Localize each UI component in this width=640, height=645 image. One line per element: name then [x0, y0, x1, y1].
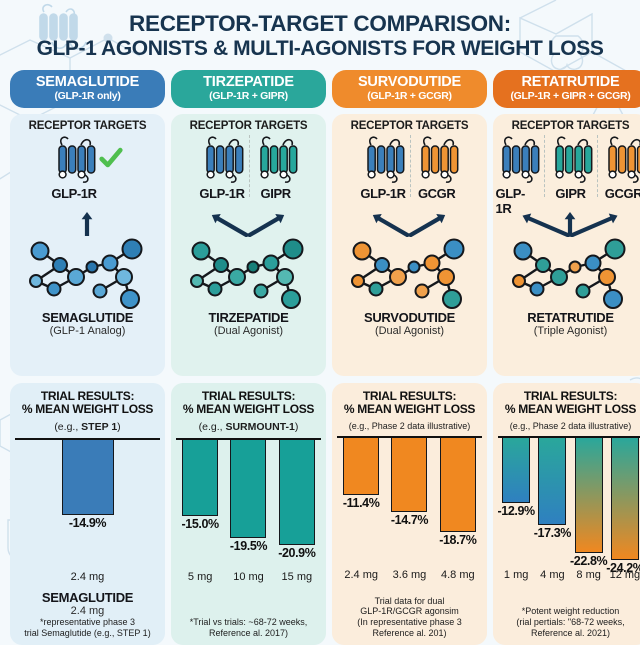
drug-pill-targets: (GLP-1R + GIPR)	[173, 91, 324, 102]
receptor-label: GIPR	[555, 186, 585, 201]
drug-column-semaglutide: SEMAGLUTIDE (GLP-1R only) RECEPTOR TARGE…	[10, 70, 165, 645]
bar-cell: -17.3%	[534, 438, 570, 540]
receptor-label: GCGR	[605, 186, 640, 201]
weight-loss-bar[interactable]	[279, 440, 315, 545]
footnote-line: *Trial vs trials: ~68-72 weeks,	[190, 617, 307, 628]
footnote-line: (In representative phase 3	[357, 617, 462, 628]
footnote-line: trial Semaglutide (e.g., STEP 1)	[24, 628, 150, 639]
receptor-helix-icon	[361, 135, 405, 185]
weight-loss-bar[interactable]	[391, 438, 427, 512]
receptor-helix-icon	[602, 135, 640, 185]
bar-value-label: -17.3%	[534, 526, 571, 540]
bar-cell: -12.9%	[498, 438, 534, 518]
bar-cell: -20.9%	[273, 440, 321, 560]
dose-label: 2.4 mg	[337, 569, 385, 581]
receptor-label: GLP-1R	[496, 186, 540, 216]
receptor-helix-icon	[200, 135, 244, 185]
receptor-label: GLP-1R	[51, 186, 96, 201]
receptor-row: GLP-1R GIPR GCGR	[497, 135, 640, 207]
chart-bars: -11.4% -14.7% -18.7%	[337, 438, 482, 568]
footnote-line: Reference al. 2017)	[190, 628, 307, 639]
check-icon	[98, 145, 124, 171]
molecule-icon	[175, 237, 321, 309]
weight-loss-bar-chart: -15.0% -19.5% -20.9%	[176, 438, 321, 570]
weight-loss-bar-chart: -11.4% -14.7% -18.7%	[337, 436, 482, 568]
trial-reference-note: (e.g., STEP 1)	[54, 421, 120, 433]
receptor-card: RECEPTOR TARGETS GLP-1R GIPR GC	[493, 114, 640, 376]
receptor-card: RECEPTOR TARGETS GLP-1R SEMAGLUTIDE (GLP…	[10, 114, 165, 376]
dose-row: 2.4 mg3.6 mg4.8 mg	[337, 569, 482, 581]
drug-pill-targets: (GLP-1R + GIPR + GCGR)	[495, 91, 640, 102]
dose-label: 1 mg	[498, 569, 534, 581]
drug-column-tirzepatide: TIRZEPATIDE (GLP-1R + GIPR) RECEPTOR TAR…	[171, 70, 326, 645]
receptor-targets-label: RECEPTOR TARGETS	[29, 120, 147, 132]
agonism-arrows	[175, 207, 322, 237]
drug-pill-name: RETATRUTIDE	[495, 75, 640, 90]
molecule-graphic	[175, 237, 322, 309]
receptor-unit-gipr[interactable]: GIPR	[254, 135, 298, 201]
bar-value-label: -22.8%	[570, 554, 607, 568]
drug-pill-header[interactable]: SEMAGLUTIDE (GLP-1R only)	[10, 70, 165, 108]
bar-value-label: -24.2%	[606, 561, 640, 575]
footnote-line: GLP-1R/GCGR agonsim	[357, 606, 462, 617]
weight-loss-bar[interactable]	[575, 438, 603, 553]
bar-value-label: -11.4%	[343, 496, 380, 510]
dose-label: 8 mg	[571, 569, 607, 581]
bar-cell: -14.9%	[15, 440, 160, 530]
chart-bars: -12.9% -17.3% -22.8% -24.2%	[498, 438, 640, 568]
dose-row: 5 mg10 mg15 mg	[176, 571, 321, 583]
dose-label: 10 mg	[224, 571, 272, 583]
dose-label: 5 mg	[176, 571, 224, 583]
arrow-group-icon	[14, 207, 160, 237]
drug-type: (Dual Agonist)	[375, 325, 444, 337]
molecule-icon	[14, 237, 160, 309]
drug-pill-targets: (GLP-1R + GCGR)	[334, 91, 485, 102]
receptor-divider	[544, 135, 545, 197]
trial-reference-note: (e.g., Phase 2 data illustrative)	[510, 421, 632, 431]
trial-results-card: TRIAL RESULTS: % MEAN WEIGHT LOSS (e.g.,…	[10, 383, 165, 645]
dose-row: 2.4 mg	[15, 571, 160, 583]
receptor-unit-gcgr[interactable]: GCGR	[415, 135, 459, 201]
trial-results-title-line1: TRIAL RESULTS:	[22, 390, 153, 404]
receptor-helix-icon	[496, 135, 540, 185]
bar-cell: -14.7%	[385, 438, 433, 527]
receptor-unit-glp-1r[interactable]: GLP-1R	[199, 135, 244, 201]
infographic-root: RECEPTOR-TARGET COMPARISON: GLP-1 AGONIS…	[0, 0, 640, 640]
drug-type: (GLP-1 Analog)	[50, 325, 126, 337]
title-line-2: GLP-1 AGONISTS & MULTI-AGONISTS FOR WEIG…	[6, 37, 634, 61]
weight-loss-bar[interactable]	[611, 438, 639, 560]
chart-bars: -15.0% -19.5% -20.9%	[176, 440, 321, 570]
chart-footnote: *Trial vs trials: ~68-72 weeks,Reference…	[190, 617, 307, 641]
dose-label: 3.6 mg	[385, 569, 433, 581]
receptor-helix-icon	[52, 135, 96, 185]
bar-cell: -22.8%	[571, 438, 607, 568]
receptor-row: GLP-1R	[14, 135, 161, 207]
receptor-label: GIPR	[261, 186, 291, 201]
receptor-divider	[597, 135, 598, 197]
trial-results-card: TRIAL RESULTS: % MEAN WEIGHT LOSS (e.g.,…	[171, 383, 326, 645]
drug-name: SEMAGLUTIDE	[42, 310, 133, 325]
chart-footnote: *representative phase 3trial Semaglutide…	[24, 617, 150, 641]
footnote-line: *representative phase 3	[24, 617, 150, 628]
drug-pill-header[interactable]: SURVODUTIDE (GLP-1R + GCGR)	[332, 70, 487, 108]
check-mark-icon	[98, 145, 124, 171]
trial-results-title-line1: TRIAL RESULTS:	[344, 390, 475, 404]
drug-pill-header[interactable]: RETATRUTIDE (GLP-1R + GIPR + GCGR)	[493, 70, 640, 108]
bar-value-label: -19.5%	[230, 539, 267, 553]
trial-reference-note: (e.g., Phase 2 data illustrative)	[349, 421, 471, 431]
bar-value-label: -20.9%	[278, 546, 315, 560]
trial-results-title: TRIAL RESULTS: % MEAN WEIGHT LOSS	[183, 390, 314, 417]
footnote-line: *Potent weight reduction	[516, 606, 624, 617]
arrow-group-icon	[175, 207, 321, 237]
bar-cell: -11.4%	[337, 438, 385, 510]
trial-results-title-line1: TRIAL RESULTS:	[505, 390, 636, 404]
weight-loss-bar[interactable]	[343, 438, 379, 495]
chart-bars: -14.9%	[15, 440, 160, 570]
drug-pill-name: SURVODUTIDE	[334, 75, 485, 90]
receptor-label: GLP-1R	[360, 186, 405, 201]
drug-name: TIRZEPATIDE	[209, 310, 289, 325]
bar-cell: -24.2%	[607, 438, 640, 575]
agonism-arrows	[14, 207, 161, 237]
bar-cell: -18.7%	[434, 438, 482, 547]
page-title: RECEPTOR-TARGET COMPARISON: GLP-1 AGONIS…	[6, 0, 634, 61]
drug-pill-name: SEMAGLUTIDE	[12, 75, 163, 90]
receptor-unit-gcgr[interactable]: GCGR	[602, 135, 640, 201]
trial-results-title-line2: % MEAN WEIGHT LOSS	[344, 403, 475, 417]
bar-value-label: -12.9%	[498, 504, 535, 518]
drug-pill-targets: (GLP-1R only)	[12, 91, 163, 102]
trial-results-title: TRIAL RESULTS: % MEAN WEIGHT LOSS	[505, 390, 636, 417]
drug-column-retatrutide: RETATRUTIDE (GLP-1R + GIPR + GCGR) RECEP…	[493, 70, 640, 645]
drug-pill-name: TIRZEPATIDE	[173, 75, 324, 90]
trial-results-title-line2: % MEAN WEIGHT LOSS	[22, 403, 153, 417]
bar-value-label: -14.7%	[391, 513, 428, 527]
chart-footnote: Trial data for dualGLP-1R/GCGR agonsim(I…	[357, 596, 462, 641]
receptor-targets-label: RECEPTOR TARGETS	[512, 120, 630, 132]
receptor-helix-icon	[415, 135, 459, 185]
molecule-icon	[497, 237, 640, 309]
footnote-line: Trial data for dual	[357, 596, 462, 607]
trial-results-title-line2: % MEAN WEIGHT LOSS	[505, 403, 636, 417]
receptor-row: GLP-1R GIPR	[175, 135, 322, 207]
trial-results-title-line1: TRIAL RESULTS:	[183, 390, 314, 404]
receptor-card: RECEPTOR TARGETS GLP-1R GIPR TIRZEPATIDE…	[171, 114, 326, 376]
dose-label: 15 mg	[273, 571, 321, 583]
receptor-card: RECEPTOR TARGETS GLP-1R GCGR SURVODUTIDE…	[332, 114, 487, 376]
chart-footnote: *Potent weight reduction(rial pertials: …	[516, 606, 624, 640]
molecule-icon	[336, 237, 482, 309]
title-line-1: RECEPTOR-TARGET COMPARISON:	[6, 12, 634, 36]
dose-label: 4.8 mg	[434, 569, 482, 581]
weight-loss-bar[interactable]	[62, 440, 114, 515]
drug-name: SURVODUTIDE	[364, 310, 455, 325]
receptor-divider	[410, 135, 411, 197]
receptor-unit-glp-1r[interactable]: GLP-1R	[496, 135, 540, 216]
bar-value-label: -15.0%	[182, 517, 219, 531]
bar-value-label: -14.9%	[69, 516, 106, 530]
bar-value-label: -18.7%	[439, 533, 476, 547]
dose-label: 2.4 mg	[15, 571, 160, 583]
agonism-arrows	[336, 207, 483, 237]
drug-column-survodutide: SURVODUTIDE (GLP-1R + GCGR) RECEPTOR TAR…	[332, 70, 487, 645]
molecule-graphic	[14, 237, 161, 309]
receptor-divider	[249, 135, 250, 197]
receptor-unit-glp-1r[interactable]: GLP-1R	[360, 135, 405, 201]
footnote-line: (rial pertials: "68-72 weeks,	[516, 617, 624, 628]
trial-results-card: TRIAL RESULTS: % MEAN WEIGHT LOSS (e.g.,…	[493, 383, 640, 645]
receptor-row: GLP-1R GCGR	[336, 135, 483, 207]
receptor-targets-label: RECEPTOR TARGETS	[190, 120, 308, 132]
weight-loss-bar[interactable]	[538, 438, 566, 525]
trial-results-title: TRIAL RESULTS: % MEAN WEIGHT LOSS	[22, 390, 153, 417]
drug-type: (Dual Agonist)	[214, 325, 283, 337]
arrow-group-icon	[336, 207, 482, 237]
comparison-columns: SEMAGLUTIDE (GLP-1R only) RECEPTOR TARGE…	[6, 70, 634, 645]
weight-loss-bar-chart: -12.9% -17.3% -22.8% -24.2%	[498, 436, 640, 568]
bar-cell: -19.5%	[224, 440, 272, 553]
footnote-line: Reference al. 201)	[357, 628, 462, 639]
weight-loss-bar-chart: -14.9%	[15, 438, 160, 570]
drug-pill-header[interactable]: TIRZEPATIDE (GLP-1R + GIPR)	[171, 70, 326, 108]
bar-cell: -15.0%	[176, 440, 224, 531]
receptor-label: GCGR	[418, 186, 455, 201]
drug-type: (Triple Agonist)	[534, 325, 608, 337]
chart-caption: SEMAGLUTIDE 2.4 mg	[42, 589, 133, 617]
receptor-unit-glp-1r[interactable]: GLP-1R	[51, 135, 96, 201]
caption-drug-name: SEMAGLUTIDE	[42, 590, 133, 605]
trial-results-title-line2: % MEAN WEIGHT LOSS	[183, 403, 314, 417]
weight-loss-bar[interactable]	[230, 440, 266, 538]
receptor-targets-label: RECEPTOR TARGETS	[351, 120, 469, 132]
receptor-helix-icon	[254, 135, 298, 185]
weight-loss-bar[interactable]	[502, 438, 530, 503]
caption-dose: 2.4 mg	[42, 605, 133, 617]
dose-label: 4 mg	[534, 569, 570, 581]
molecule-graphic	[336, 237, 483, 309]
receptor-label: GLP-1R	[199, 186, 244, 201]
receptor-unit-gipr[interactable]: GIPR	[549, 135, 593, 201]
weight-loss-bar[interactable]	[182, 440, 218, 516]
footnote-line: Reference al. 2021)	[516, 628, 624, 639]
molecule-graphic	[497, 237, 640, 309]
trial-results-card: TRIAL RESULTS: % MEAN WEIGHT LOSS (e.g.,…	[332, 383, 487, 645]
trial-results-title: TRIAL RESULTS: % MEAN WEIGHT LOSS	[344, 390, 475, 417]
trial-reference-note: (e.g., SURMOUNT-1)	[199, 421, 299, 433]
weight-loss-bar[interactable]	[440, 438, 476, 532]
drug-name: RETATRUTIDE	[527, 310, 614, 325]
receptor-helix-icon	[549, 135, 593, 185]
